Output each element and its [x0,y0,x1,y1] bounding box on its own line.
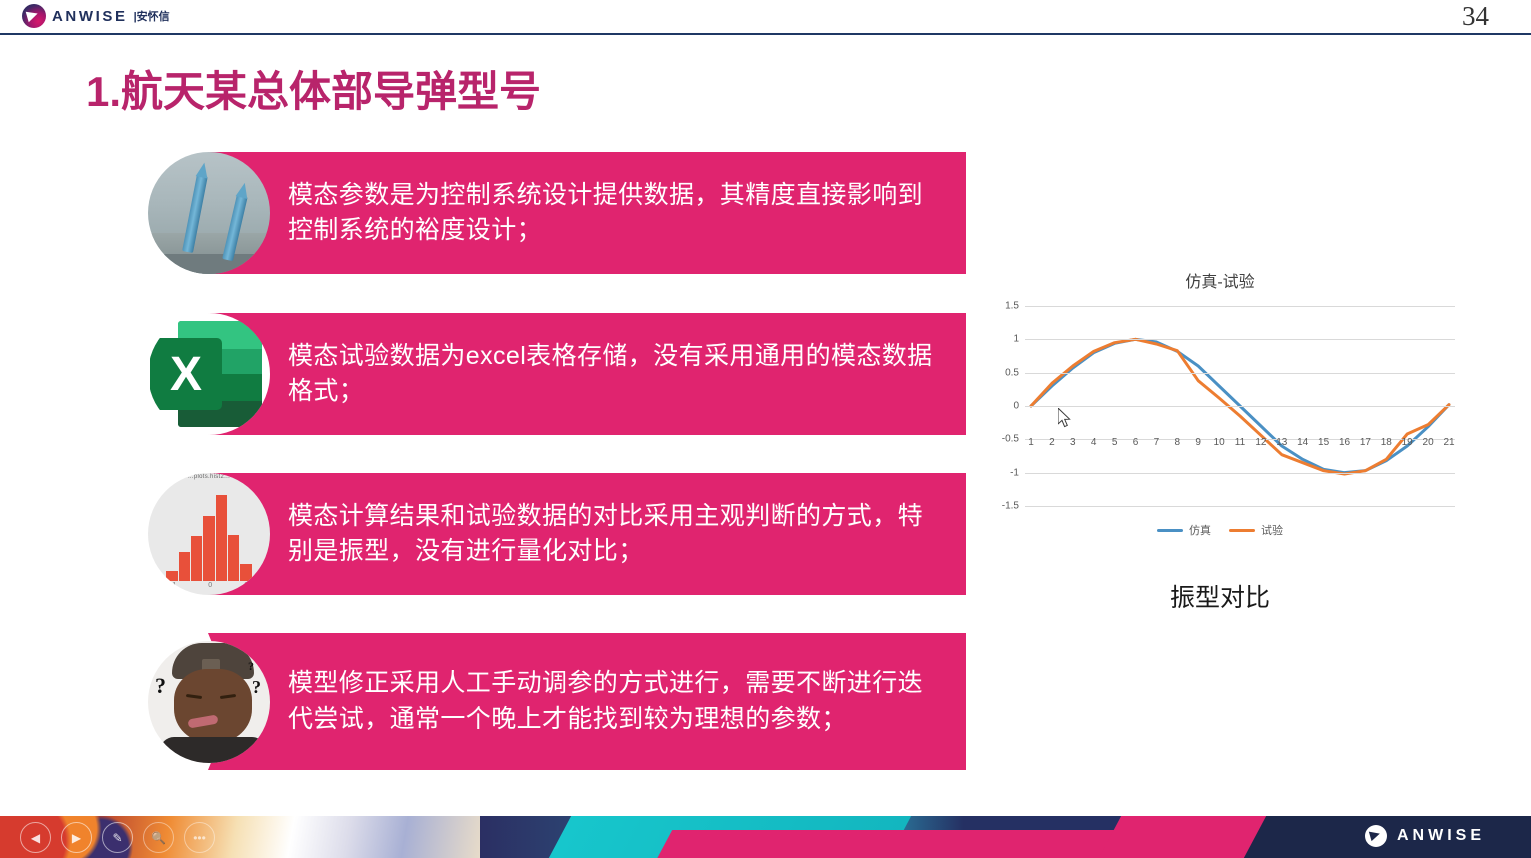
page-title: 1.航天某总体部导弹型号 [86,58,541,119]
bullet-text: 模态参数是为控制系统设计提供数据，其精度直接影响到控制系统的裕度设计； [208,178,966,249]
bullet-row: X 模态试验数据为excel表格存储，没有采用通用的模态数据格式； [148,313,966,435]
chart-gridline [1025,439,1455,440]
footer-brand-logo: ANWISE [1365,825,1485,847]
footer-brand-name: ANWISE [1397,827,1485,845]
chart-y-tick: -1 [1010,467,1019,478]
pen-tool-button[interactable]: ✎ [102,822,133,853]
mouse-cursor-icon [1058,408,1072,428]
bullet-banner: 模型修正采用人工手动调参的方式进行，需要不断进行迭代尝试，通常一个晚上才能找到较… [208,633,966,770]
chart-title: 仿真-试验 [985,268,1455,292]
slide-header: ANWISE |安怀信 34 [0,0,1531,35]
chart-legend: 仿真试验 [985,522,1455,538]
histogram-axis: -1 0 1 [154,582,264,595]
histogram-bars [154,495,264,581]
histogram-icon: ...plots.hist2... -1 0 1 [148,473,270,595]
zoom-button[interactable]: 🔍 [143,822,174,853]
bullet-row: ? ? ? 模型修正采用人工手动调参的方式进行，需要不断进行迭代尝试，通常一个晚… [148,633,966,770]
anwise-logo-icon [22,4,46,28]
bullet-text: 模态计算结果和试验数据的对比采用主观判断的方式，特别是振型，没有进行量化对比； [208,499,966,570]
excel-letter: X [150,338,222,410]
chart-gridline [1025,506,1455,507]
page-number: 34 [1462,1,1489,32]
anwise-logo-icon [1365,825,1387,847]
chart-gridline [1025,473,1455,474]
more-options-button[interactable]: ••• [184,822,215,853]
next-slide-button[interactable]: ▶ [61,822,92,853]
excel-icon: X [148,313,270,435]
hist-tick: 0 [208,582,212,589]
question-mark-icon: ? [155,673,166,699]
bullet-text: 模态试验数据为excel表格存储，没有采用通用的模态数据格式； [208,339,966,410]
comparison-chart: 仿真-试验 1.510.50-0.5-1-1.5 123456789101112… [985,262,1455,602]
chart-legend-item: 试验 [1229,522,1283,538]
brand-logo: ANWISE |安怀信 [22,4,170,28]
histogram-caption: ...plots.hist2... [148,474,270,480]
chart-gridline [1025,339,1455,340]
chart-gridline [1025,373,1455,374]
previous-slide-button[interactable]: ◀ [20,822,51,853]
chart-y-tick: 1 [1013,334,1019,345]
chart-gridline [1025,306,1455,307]
hist-tick: -1 [170,582,176,589]
chart-y-tick: 0.5 [1005,367,1019,378]
chart-plot: 1.510.50-0.5-1-1.5 123456789101112131415… [985,306,1455,506]
bottom-decorative-bar: ◀▶✎🔍••• ANWISE [0,816,1531,858]
chart-y-tick: -1.5 [1002,501,1019,512]
bullet-row: ...plots.hist2... -1 0 1 模态计算结果和试验数据的对比采… [148,473,966,595]
chart-plot-area [1025,306,1455,506]
legend-label: 仿真 [1189,522,1211,538]
brand-name: ANWISE [52,8,128,25]
question-mark-icon: ? [248,659,254,674]
chart-caption: 振型对比 [985,578,1455,614]
bullet-banner: 模态计算结果和试验数据的对比采用主观判断的方式，特别是振型，没有进行量化对比； [208,473,966,595]
presentation-controls[interactable]: ◀▶✎🔍••• [20,822,215,853]
chart-y-tick: -0.5 [1002,434,1019,445]
chart-y-tick: 1.5 [1005,301,1019,312]
confused-face-photo: ? ? ? [148,641,270,763]
missile-photo [148,152,270,274]
chart-gridline [1025,406,1455,407]
legend-label: 试验 [1261,522,1283,538]
chart-y-tick: 0 [1013,401,1019,412]
bullet-row: 模态参数是为控制系统设计提供数据，其精度直接影响到控制系统的裕度设计； [148,152,966,274]
question-mark-icon: ? [252,677,261,698]
bullet-banner: 模态参数是为控制系统设计提供数据，其精度直接影响到控制系统的裕度设计； [208,152,966,274]
bullet-banner: 模态试验数据为excel表格存储，没有采用通用的模态数据格式； [208,313,966,435]
hist-tick: 1 [244,582,248,589]
chart-legend-item: 仿真 [1157,522,1211,538]
bullet-text: 模型修正采用人工手动调参的方式进行，需要不断进行迭代尝试，通常一个晚上才能找到较… [208,666,966,737]
chart-y-axis: 1.510.50-0.5-1-1.5 [985,306,1019,506]
legend-swatch [1229,529,1255,532]
legend-swatch [1157,529,1183,532]
brand-name-chinese: |安怀信 [134,8,170,24]
